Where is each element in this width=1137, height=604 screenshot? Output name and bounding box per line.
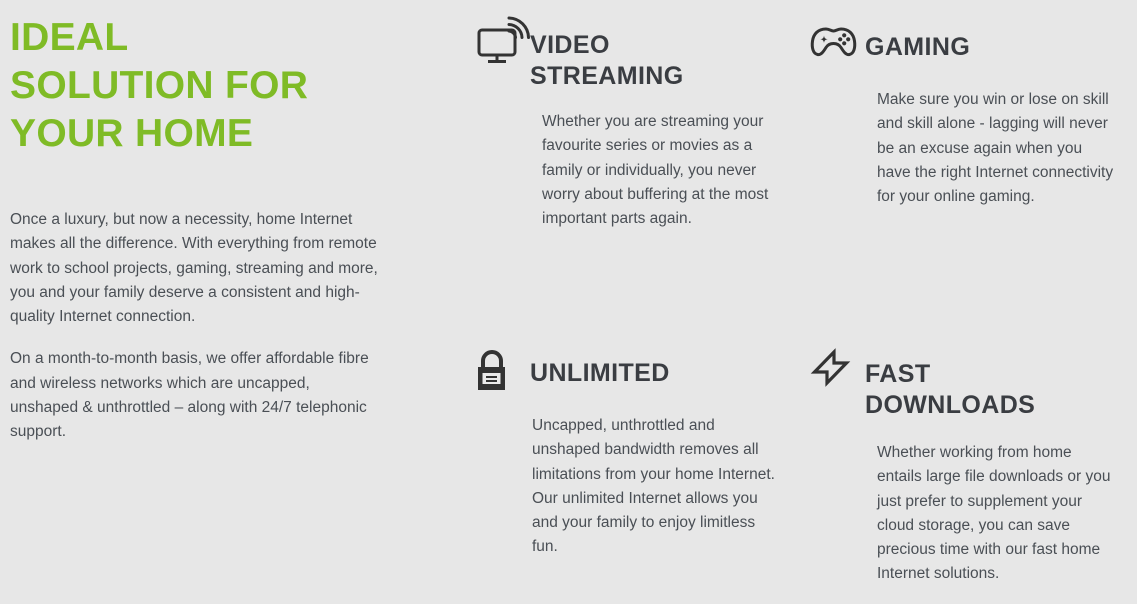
headline-line-1: IDEAL [10,14,382,62]
feature-header: FAST DOWNLOADS [805,345,1105,421]
feature-card-video-streaming: VIDEO STREAMING Whether you are streamin… [470,14,800,231]
feature-header: GAMING [805,14,1105,70]
feature-grid: VIDEO STREAMING Whether you are streamin… [470,0,1137,604]
feature-title-line-1: VIDEO [530,30,684,61]
marketing-section: IDEAL SOLUTION FOR YOUR HOME Once a luxu… [0,0,1137,604]
intro-column: IDEAL SOLUTION FOR YOUR HOME Once a luxu… [10,0,382,604]
feature-title-line-1: GAMING [865,32,970,63]
feature-header: UNLIMITED [470,340,800,396]
feature-title-line-2: STREAMING [530,61,684,92]
feature-card-fast-downloads: FAST DOWNLOADS Whether working from home… [805,345,1105,587]
headline-line-3: YOUR HOME [10,110,382,158]
feature-title: FAST DOWNLOADS [865,345,1035,421]
intro-body: Once a luxury, but now a necessity, home… [10,208,382,445]
feature-title: GAMING [865,14,970,63]
feature-header: VIDEO STREAMING [470,14,800,92]
feature-card-unlimited: UNLIMITED Uncapped, unthrottled and unsh… [470,340,800,560]
feature-title: UNLIMITED [530,340,670,389]
gamepad-icon [805,14,865,70]
intro-paragraph-2: On a month-to-month basis, we offer affo… [10,347,382,444]
monitor-wifi-icon [470,14,530,70]
feature-card-gaming: GAMING Make sure you win or lose on skil… [805,14,1105,209]
feature-description: Uncapped, unthrottled and unshaped bandw… [532,414,784,560]
headline-line-2: SOLUTION FOR [10,62,382,110]
lightning-bolt-icon [805,345,865,401]
feature-title: VIDEO STREAMING [530,14,684,92]
feature-title-line-1: UNLIMITED [530,358,670,389]
feature-description: Make sure you win or lose on skill and s… [877,88,1115,209]
page-title: IDEAL SOLUTION FOR YOUR HOME [10,0,382,158]
feature-title-line-1: FAST [865,359,1035,390]
feature-title-line-2: DOWNLOADS [865,390,1035,421]
open-padlock-icon [470,340,530,396]
feature-description: Whether you are streaming your favourite… [542,110,794,231]
feature-description: Whether working from home entails large … [877,441,1115,587]
intro-paragraph-1: Once a luxury, but now a necessity, home… [10,208,382,329]
